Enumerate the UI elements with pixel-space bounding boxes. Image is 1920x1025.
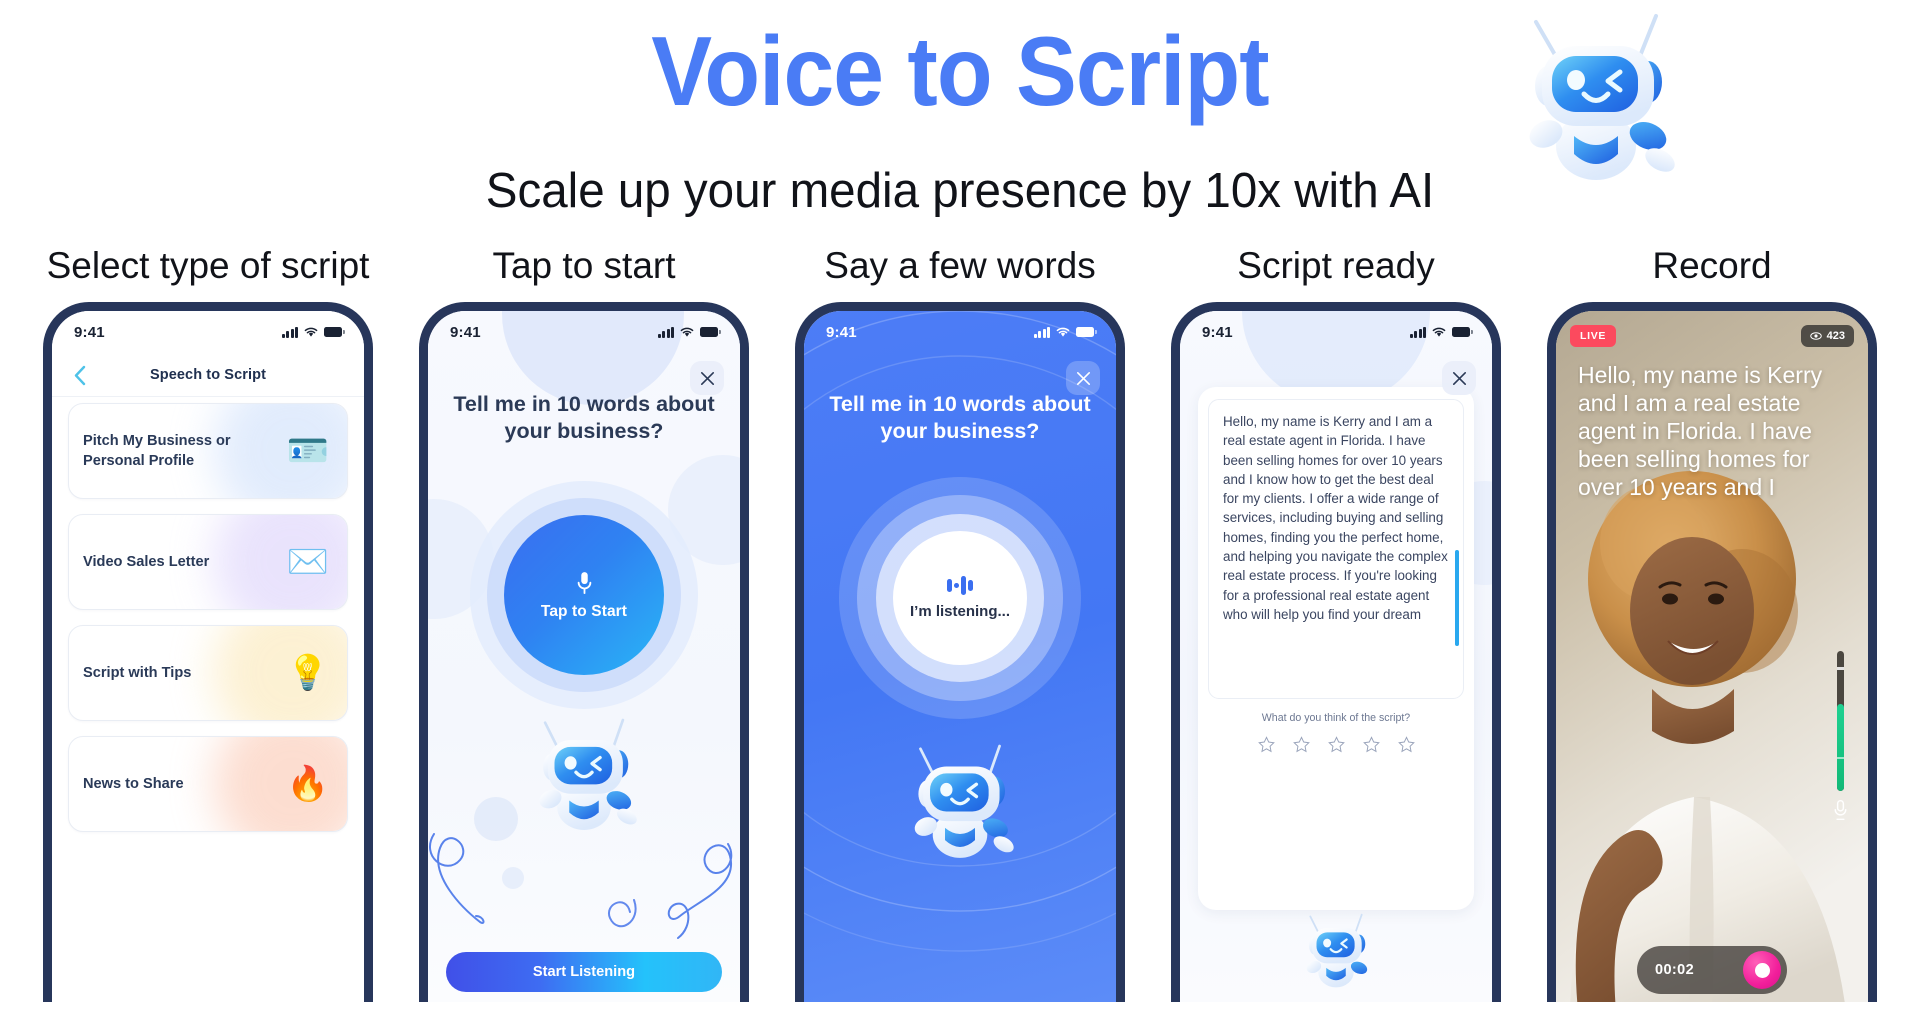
list-item[interactable]: Script with Tips 💡: [68, 625, 348, 721]
status-time: 9:41: [74, 324, 105, 341]
cellular-bars-icon: [282, 327, 298, 338]
column-say-a-few-words: Say a few words 9:41: [795, 230, 1125, 1025]
audio-waveform-icon: [947, 576, 972, 595]
status-time: 9:41: [450, 324, 481, 341]
robot-mascot-icon: [1297, 908, 1375, 994]
column-label: Tap to start: [419, 230, 749, 302]
list-item[interactable]: Pitch My Business or Personal Profile 🪪: [68, 403, 348, 499]
listening-indicator[interactable]: I’m listening...: [839, 477, 1081, 719]
list-item[interactable]: Video Sales Letter ✉️: [68, 514, 348, 610]
column-script-ready: Script ready 9:41: [1171, 230, 1501, 1025]
scrollbar[interactable]: [1455, 550, 1459, 646]
status-time: 9:41: [1202, 324, 1233, 341]
listening-core: I’m listening...: [893, 531, 1027, 665]
level-fill: [1837, 704, 1844, 791]
viewer-count-badge: 423: [1801, 325, 1854, 347]
column-label: Say a few words: [795, 230, 1125, 302]
list-item[interactable]: News to Share 🔥: [68, 736, 348, 832]
chevron-left-icon[interactable]: [66, 362, 92, 388]
id-card-emoji: 🪪: [287, 434, 329, 468]
column-label: Script ready: [1171, 230, 1501, 302]
record-stop-icon[interactable]: [1743, 951, 1781, 989]
status-bar: 9:41: [804, 311, 1116, 353]
rating-stars: [1208, 736, 1464, 753]
script-textbox[interactable]: Hello, my name is Kerry and I am a real …: [1208, 399, 1464, 699]
phone-frame-2: 9:41 Tell me in 10 words about yo: [419, 302, 749, 1002]
list-item-label: Video Sales Letter: [83, 552, 209, 572]
cellular-bars-icon: [1034, 327, 1050, 338]
star-outline-icon[interactable]: [1328, 736, 1345, 753]
star-outline-icon[interactable]: [1293, 736, 1310, 753]
eye-icon: [1810, 330, 1822, 342]
level-tick: [1837, 667, 1844, 670]
battery-full-icon: [1076, 327, 1094, 337]
robot-mascot-icon: [900, 737, 1020, 867]
start-listening-label: Start Listening: [533, 964, 635, 980]
battery-full-icon: [324, 327, 342, 337]
star-outline-icon[interactable]: [1398, 736, 1415, 753]
close-icon[interactable]: [690, 361, 724, 395]
prompt-question: Tell me in 10 words about your business?: [804, 391, 1116, 446]
column-label: Record: [1547, 230, 1877, 302]
screen-listening: 9:41 Tell me in 10 words about yo: [804, 311, 1116, 1002]
wifi-icon: [1056, 327, 1070, 338]
star-outline-icon[interactable]: [1363, 736, 1380, 753]
robot-mascot-icon: [1508, 8, 1684, 188]
status-bar: 9:41: [428, 311, 740, 353]
column-label: Select type of script: [43, 230, 373, 302]
microphone-icon[interactable]: [1832, 799, 1849, 821]
status-bar: 9:41: [1180, 311, 1492, 353]
listening-label: I’m listening...: [910, 603, 1010, 620]
rating-prompt: What do you think of the script?: [1208, 712, 1464, 724]
screen-record: LIVE 423 Hello, my name is Kerry and I a…: [1556, 311, 1868, 1002]
battery-full-icon: [1452, 327, 1470, 337]
robot-mascot-icon: [525, 711, 643, 839]
script-text: Hello, my name is Kerry and I am a real …: [1223, 412, 1449, 624]
screen-select-type: 9:41 Speech to Scr: [52, 311, 364, 1002]
script-panel: Hello, my name is Kerry and I am a real …: [1198, 387, 1474, 910]
column-tap-to-start: Tap to start 9:41: [419, 230, 749, 1025]
list-item-label: Script with Tips: [83, 663, 191, 683]
star-outline-icon[interactable]: [1258, 736, 1275, 753]
status-badge: LIVE: [1570, 325, 1616, 347]
live-badge-label: LIVE: [1580, 330, 1606, 342]
record-controls: 00:02: [1637, 946, 1787, 994]
phone-frame-1: 9:41 Speech to Scr: [43, 302, 373, 1002]
close-icon[interactable]: [1066, 361, 1100, 395]
envelope-emoji: ✉️: [287, 545, 329, 579]
mic-level-slider[interactable]: [1827, 651, 1853, 821]
phone-frame-4: 9:41 Hell: [1171, 302, 1501, 1002]
status-time: 9:41: [826, 324, 857, 341]
status-bar: 9:41: [52, 311, 364, 353]
close-icon[interactable]: [1442, 361, 1476, 395]
level-track: [1837, 651, 1844, 791]
fire-emoji: 🔥: [287, 767, 329, 801]
cellular-bars-icon: [1410, 327, 1426, 338]
level-tick: [1837, 757, 1844, 760]
phone-screens-strip: Select type of script 9:41: [0, 230, 1920, 1025]
screen-script-ready: 9:41 Hell: [1180, 311, 1492, 1002]
record-timer: 00:02: [1655, 962, 1694, 978]
screen-header: Speech to Script: [52, 353, 364, 397]
prompt-question: Tell me in 10 words about your business?: [428, 391, 740, 446]
column-select-type: Select type of script 9:41: [43, 230, 373, 1025]
tap-to-start-button[interactable]: Tap to Start: [470, 481, 698, 709]
viewer-count: 423: [1827, 330, 1845, 342]
phone-frame-3: 9:41 Tell me in 10 words about yo: [795, 302, 1125, 1002]
list-item-label: News to Share: [83, 774, 184, 794]
screen-title: Speech to Script: [150, 367, 266, 383]
phone-frame-5: LIVE 423 Hello, my name is Kerry and I a…: [1547, 302, 1877, 1002]
hero-section: Voice to Script Scale up your media pres…: [0, 0, 1920, 230]
teleprompter-text: Hello, my name is Kerry and I am a real …: [1578, 361, 1842, 501]
list-item-label: Pitch My Business or Personal Profile: [83, 431, 233, 472]
screen-tap-to-start: 9:41 Tell me in 10 words about yo: [428, 311, 740, 1002]
cellular-bars-icon: [658, 327, 674, 338]
microphone-icon: [575, 570, 594, 596]
column-record: Record: [1547, 230, 1877, 1025]
lightbulb-emoji: 💡: [287, 656, 329, 690]
battery-full-icon: [700, 327, 718, 337]
start-listening-button[interactable]: Start Listening: [446, 952, 722, 992]
script-type-list: Pitch My Business or Personal Profile 🪪 …: [52, 403, 364, 847]
wifi-icon: [680, 327, 694, 338]
wifi-icon: [1432, 327, 1446, 338]
tap-to-start-label: Tap to Start: [541, 603, 627, 621]
wifi-icon: [304, 327, 318, 338]
